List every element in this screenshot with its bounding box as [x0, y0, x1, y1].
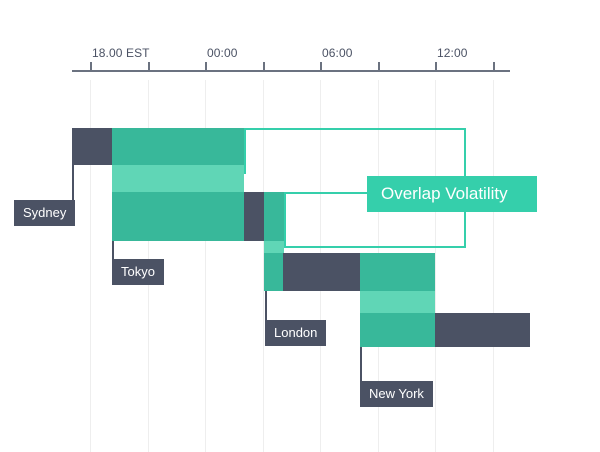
gridline [493, 80, 494, 452]
outline-right-upper-edge [464, 128, 466, 178]
outline-right-lower-edge [464, 210, 466, 248]
axis-tick-label-1: 18.00 EST [92, 46, 150, 60]
bar-sydney-closed [72, 128, 112, 165]
outline-left-lower-edge [284, 192, 286, 248]
outline-mid-left-edge [284, 192, 370, 194]
axis-tick [320, 62, 322, 70]
gridline [435, 80, 436, 452]
outline-bottom-edge [284, 246, 466, 248]
axis-tick [90, 62, 92, 70]
bar-london-overlap [360, 291, 435, 313]
bar-tokyo-closed [244, 192, 264, 241]
axis-tick [148, 62, 150, 70]
tokyo-label-stem [112, 241, 114, 259]
bar-london-closed [283, 253, 360, 291]
bar-sydney-open-top [112, 128, 244, 165]
bar-london-open-bot [360, 313, 435, 347]
newyork-label-stem [360, 347, 362, 381]
bar-sydney-overlap [112, 165, 244, 192]
market-label-tokyo[interactable]: Tokyo [112, 259, 164, 285]
chart-canvas: 18.00 EST 00:00 06:00 12:00 Ove [0, 0, 600, 452]
axis-tick-label-2: 00:00 [207, 46, 238, 60]
outline-top-edge [244, 128, 466, 130]
axis-tick [435, 62, 437, 70]
sydney-label-stem [72, 165, 74, 200]
market-label-sydney[interactable]: Sydney [14, 200, 75, 226]
overlap-volatility-callout[interactable]: Overlap Volatility [367, 176, 537, 212]
axis-tick [493, 62, 495, 70]
bar-london-open-top [360, 253, 435, 291]
axis-tick [378, 62, 380, 70]
outline-left-notch-edge [244, 128, 246, 174]
market-label-london[interactable]: London [265, 320, 326, 346]
axis-tick-label-3: 06:00 [322, 46, 353, 60]
axis-tick [205, 62, 207, 70]
axis-tick-label-4: 12:00 [437, 46, 468, 60]
bar-newyork-closed [435, 313, 530, 347]
market-label-newyork[interactable]: New York [360, 381, 433, 407]
bar-tokyo-open-bot [264, 253, 284, 291]
axis-line [72, 70, 510, 72]
bar-sydney-open-bot [112, 192, 244, 241]
axis-tick [263, 62, 265, 70]
bar-tokyo-open-top [264, 192, 284, 241]
london-label-stem [265, 291, 267, 320]
